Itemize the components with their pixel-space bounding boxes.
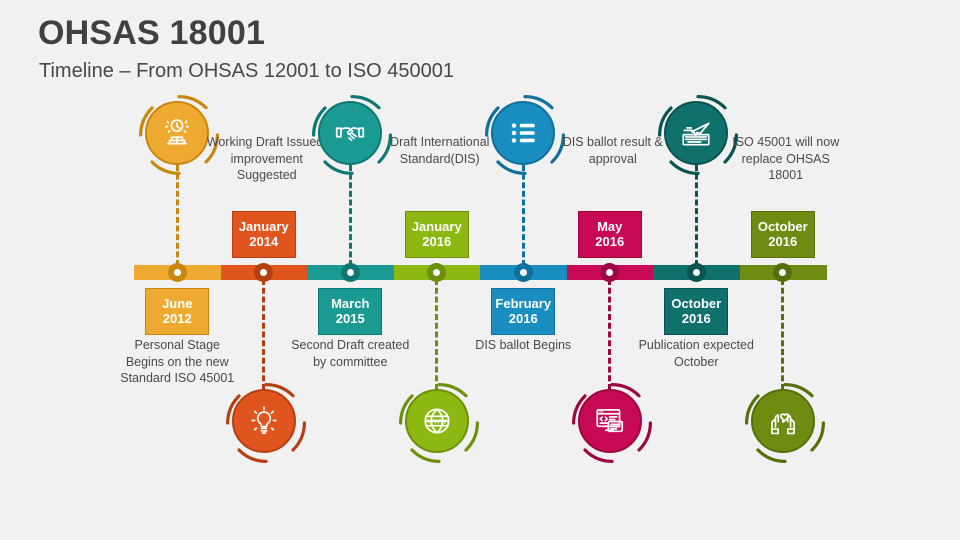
milestone-description-4: Draft International Standard(DIS) (380, 134, 500, 167)
date-year: 2015 (321, 311, 379, 326)
date-year: 2016 (667, 311, 725, 326)
trophy-award-icon[interactable] (145, 101, 209, 165)
date-chip-6[interactable]: May2016 (578, 211, 642, 258)
bullet-list-icon[interactable] (491, 101, 555, 165)
connector-line-8 (781, 279, 784, 390)
date-chip-5[interactable]: February2016 (491, 288, 555, 335)
date-year: 2016 (494, 311, 552, 326)
date-chip-7[interactable]: October2016 (664, 288, 728, 335)
svg-text:WWW: WWW (427, 419, 446, 426)
keyboard-plane-icon[interactable] (664, 101, 728, 165)
connector-line-4 (435, 279, 438, 390)
page-subtitle: Timeline – From OHSAS 12001 to ISO 45000… (39, 60, 454, 83)
date-chip-2[interactable]: January2014 (232, 211, 296, 258)
date-year: 2016 (408, 234, 466, 249)
date-chip-4[interactable]: January2016 (405, 211, 469, 258)
date-chip-8[interactable]: October2016 (751, 211, 815, 258)
date-month: October (754, 219, 812, 234)
milestone-description-7: Publication expected October (636, 337, 756, 370)
milestone-description-6: DIS ballot result & approval (553, 134, 673, 167)
date-month: January (235, 219, 293, 234)
date-month: May (581, 219, 639, 234)
globe-www-icon[interactable]: WWW (405, 389, 469, 453)
connector-line-5 (522, 165, 525, 266)
date-year: 2016 (754, 234, 812, 249)
milestone-description-1: Personal Stage Begins on the new Standar… (117, 337, 237, 387)
connector-line-2 (262, 279, 265, 390)
date-month: January (408, 219, 466, 234)
date-year: 2012 (148, 311, 206, 326)
date-year: 2014 (235, 234, 293, 249)
connector-line-1 (176, 165, 179, 266)
connector-line-7 (695, 165, 698, 266)
milestone-description-8: ISO 45001 will now replace OHSAS 18001 (726, 134, 846, 184)
milestone-description-5: DIS ballot Begins (463, 337, 583, 354)
connector-line-6 (608, 279, 611, 390)
milestone-description-2: Working Draft Issued, improvement Sugges… (207, 134, 327, 184)
handshake-icon[interactable] (318, 101, 382, 165)
date-month: June (148, 296, 206, 311)
hands-heart-icon[interactable] (751, 389, 815, 453)
date-chip-1[interactable]: June2012 (145, 288, 209, 335)
milestone-description-3: Second Draft created by committee (290, 337, 410, 370)
monitor-code-icon[interactable] (578, 389, 642, 453)
date-month: February (494, 296, 552, 311)
date-month: March (321, 296, 379, 311)
infographic-canvas: OHSAS 18001 Timeline – From OHSAS 12001 … (0, 0, 960, 540)
lightbulb-icon[interactable] (232, 389, 296, 453)
date-month: October (667, 296, 725, 311)
date-chip-3[interactable]: March2015 (318, 288, 382, 335)
date-year: 2016 (581, 234, 639, 249)
timeline-bar (134, 265, 826, 280)
connector-line-3 (349, 165, 352, 266)
page-title: OHSAS 18001 (38, 14, 265, 53)
